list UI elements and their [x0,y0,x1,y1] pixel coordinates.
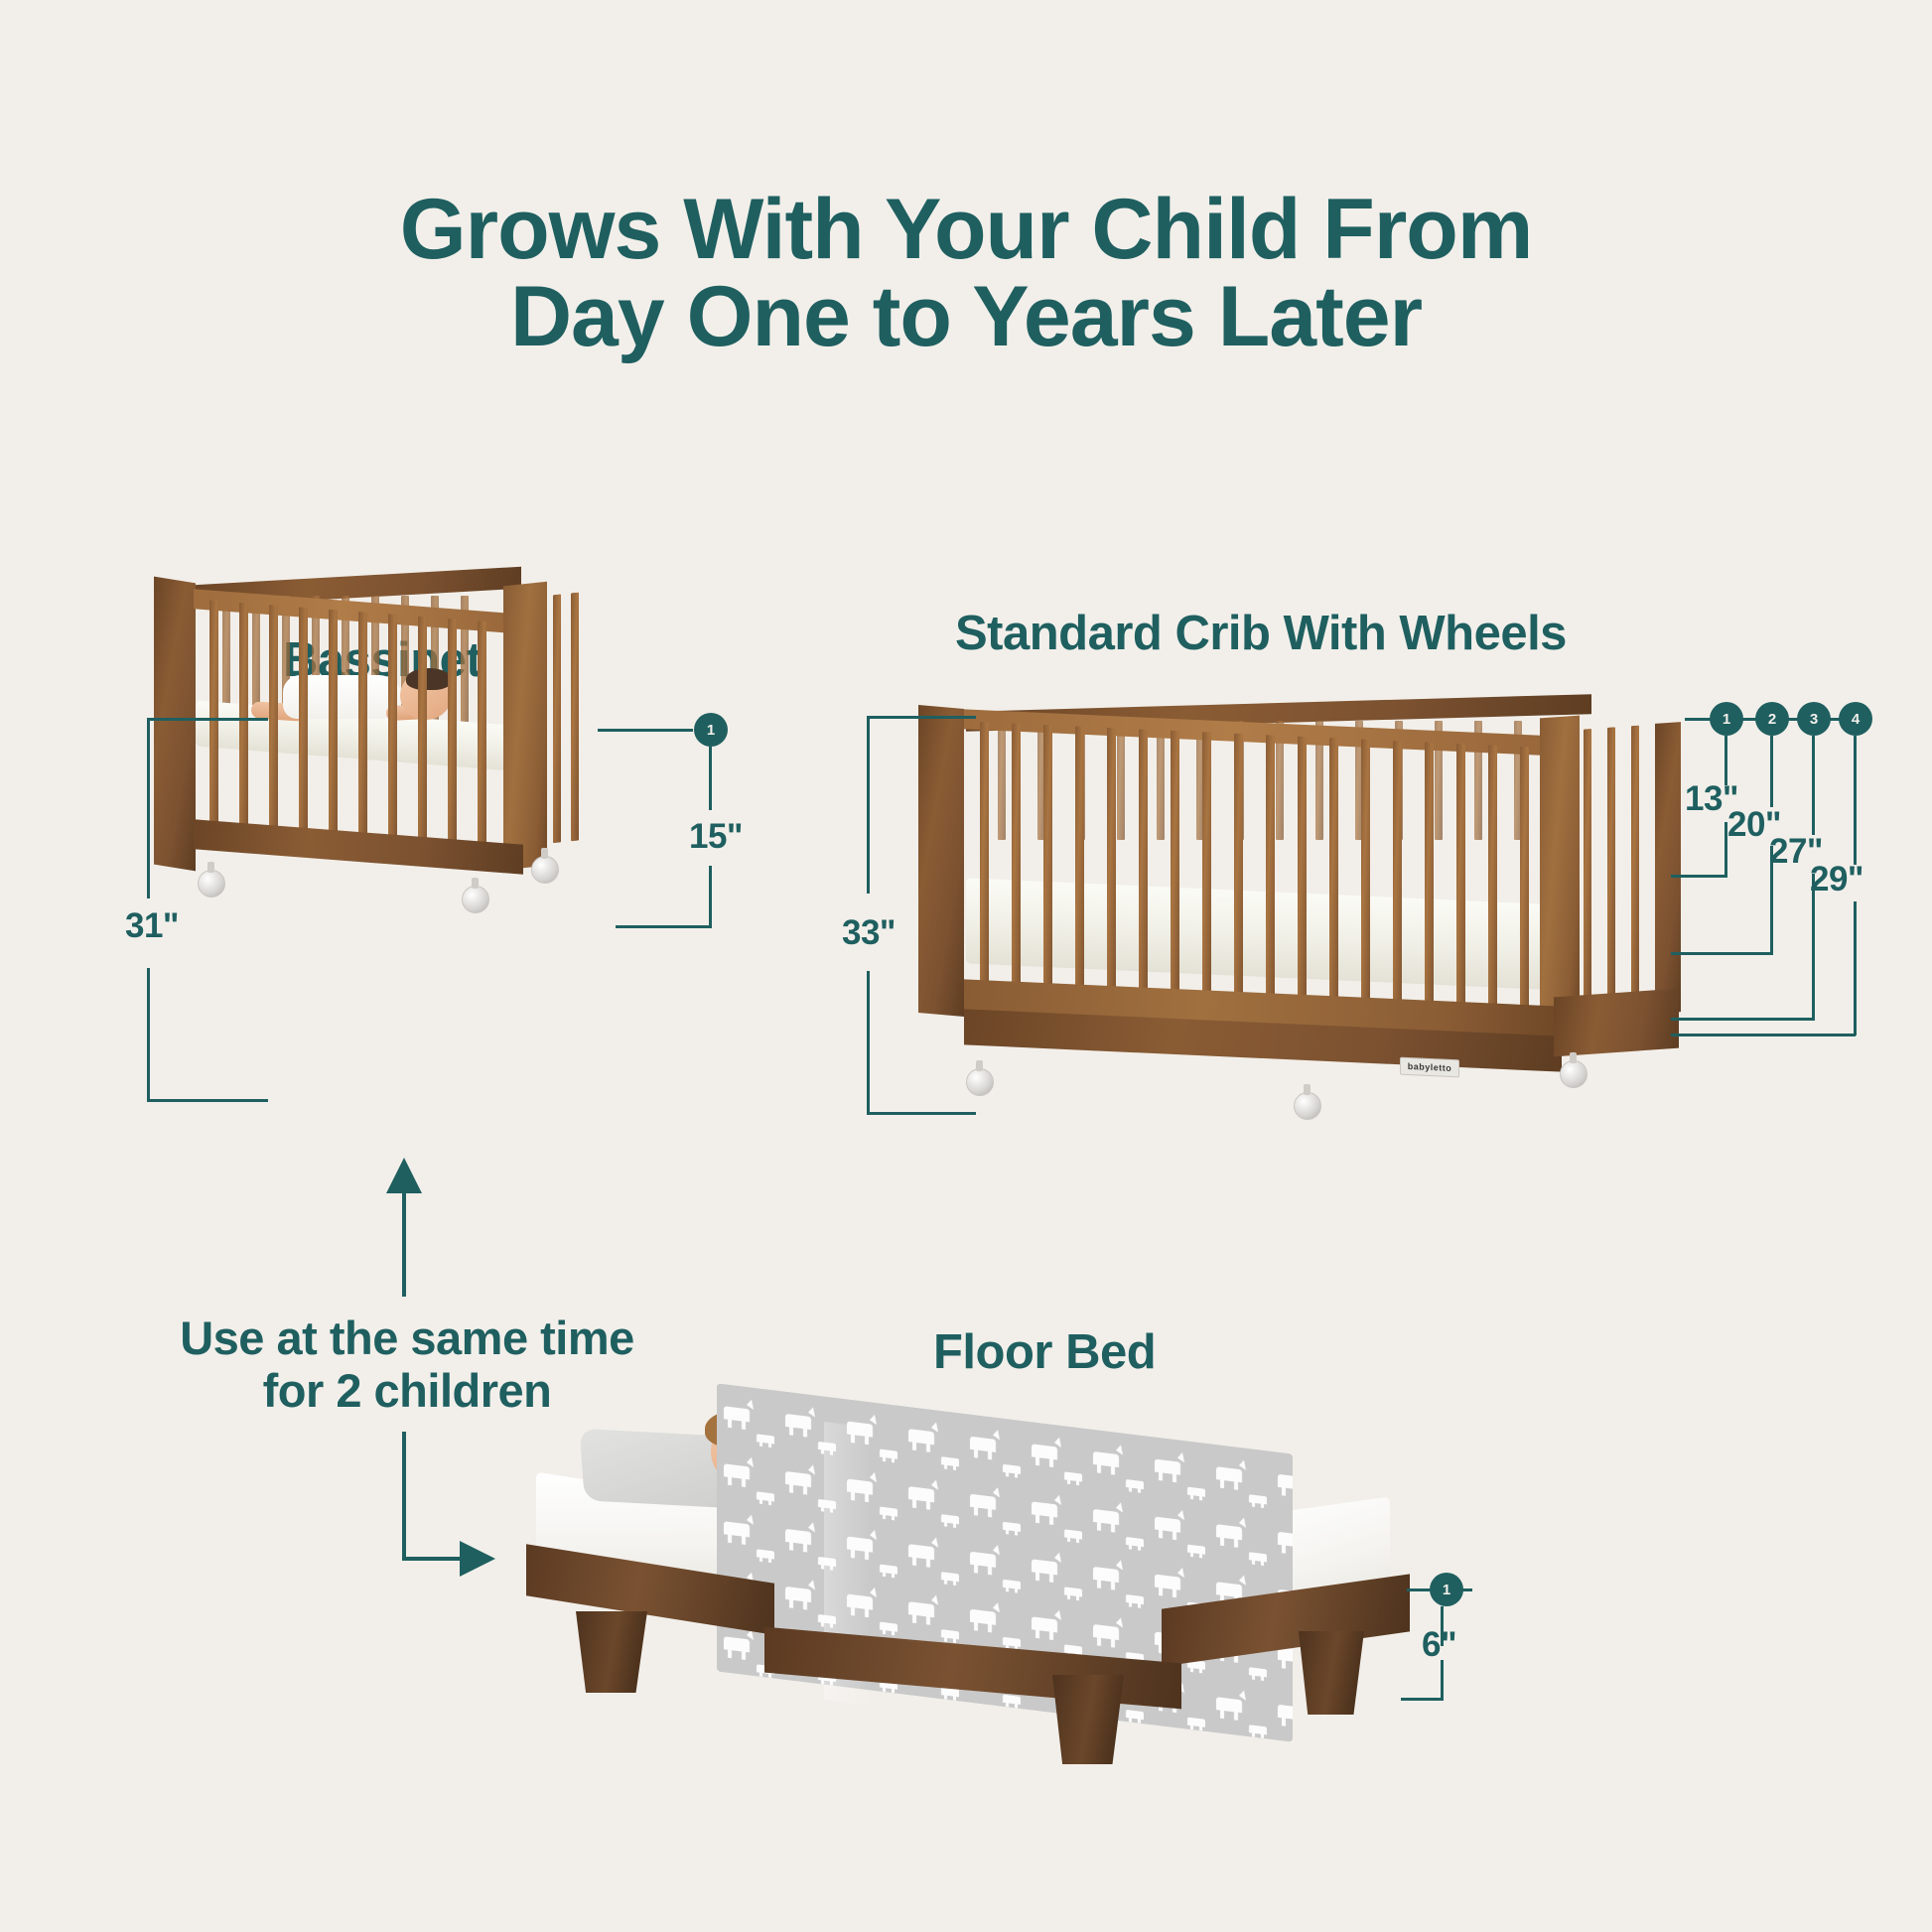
crib-leader-4-h [1671,1034,1856,1036]
crib-height-bracket-bottom [867,1112,976,1115]
bassinet-measure-badge-1[interactable]: 1 [694,713,728,747]
crib-leader-4-v [1854,736,1857,865]
arrow-down-to-floor-bed [404,1432,483,1559]
crib-right-panel [1655,722,1681,1014]
crib-measure-badge-3[interactable]: 3 [1797,702,1831,736]
bassinet-caster-wheel [462,886,489,913]
crib-height-bracket-line2 [867,971,870,1115]
crib-right-post [1540,716,1580,1017]
badge-number: 1 [707,722,715,739]
page-title-line1: Grows With Your Child From [400,182,1533,277]
crib-leader-2-h [1671,952,1772,955]
bassinet-caster-wheel [198,870,225,897]
crib-caster-wheel [966,1068,994,1096]
bassinet-left-panel [154,577,196,872]
callout-line2: for 2 children [263,1364,552,1417]
crib-measure-badge-1[interactable]: 1 [1710,702,1743,736]
badge-number: 4 [1852,711,1860,728]
bassinet-badge-leader-v2 [709,866,712,927]
brand-logo: babyletto [1400,1057,1459,1078]
bassinet-mattress-height-label: 15" [689,817,743,857]
crib-height-bracket-top [867,716,976,719]
bassinet-height-bracket-bottom [147,1099,268,1102]
callout-line1: Use at the same time [180,1311,634,1364]
badge-number: 3 [1810,711,1818,728]
crib-left-panel [918,705,964,1017]
infographic-canvas: Grows With Your Child From Day One to Ye… [0,0,1932,1932]
crib-measure-badge-2[interactable]: 2 [1755,702,1789,736]
bassinet-caster-wheel [531,856,559,884]
crib-caster-wheel [1560,1060,1587,1088]
floor-bed-leg [1052,1675,1124,1764]
crib-measure-label-29: 29" [1810,860,1863,899]
crib-leader-3-v [1812,736,1815,835]
badge-number: 1 [1443,1582,1450,1598]
crib-heading: Standard Crib With Wheels [955,606,1567,661]
badge-number: 1 [1723,711,1730,728]
floor-bed-height-label: 6" [1422,1625,1456,1665]
crib-illustration: babyletto [918,695,1703,1112]
bassinet-height-bracket-line [147,718,150,898]
page-title-line2: Day One to Years Later [0,274,1932,361]
crib-leader-2-v [1770,736,1773,807]
bassinet-badge-leader-v [709,747,712,810]
crib-right-slats [1578,724,1661,998]
floor-bed-leg [1299,1631,1364,1715]
crib-leader-1-v [1725,736,1727,785]
crib-leader-4-v2 [1854,901,1857,1035]
crib-height-label: 33" [842,913,896,953]
bassinet-height-bracket-top [147,718,268,721]
floor-bed-leg [576,1611,647,1693]
floor-bed-measure-badge-1[interactable]: 1 [1430,1573,1463,1606]
bassinet-badge-leader-h [598,729,693,732]
bassinet-right-slats [547,592,583,844]
bassinet-height-bracket-line2 [147,968,150,1102]
floor-bed-heading: Floor Bed [933,1324,1156,1380]
crib-leader-1-h [1671,875,1726,878]
crib-caster-wheel [1294,1092,1321,1120]
badge-number: 2 [1768,711,1776,728]
page-title: Grows With Your Child From Day One to Ye… [0,187,1932,360]
bassinet-badge-leader-h2 [616,925,712,928]
crib-measure-badge-4[interactable]: 4 [1839,702,1872,736]
bassinet-right-panel [503,582,547,871]
floor-bed-badge-leader-v2 [1441,1660,1444,1700]
callout-note: Use at the same time for 2 children [119,1312,695,1417]
bassinet-illustration [154,562,581,904]
bassinet-height-label: 31" [125,906,179,946]
crib-leader-3-h [1671,1018,1814,1021]
crib-base-rail-right [1554,989,1679,1057]
crib-height-bracket-line [867,716,870,894]
floor-bed-illustration [526,1415,1440,1757]
floor-bed-badge-leader-h2 [1401,1698,1444,1701]
